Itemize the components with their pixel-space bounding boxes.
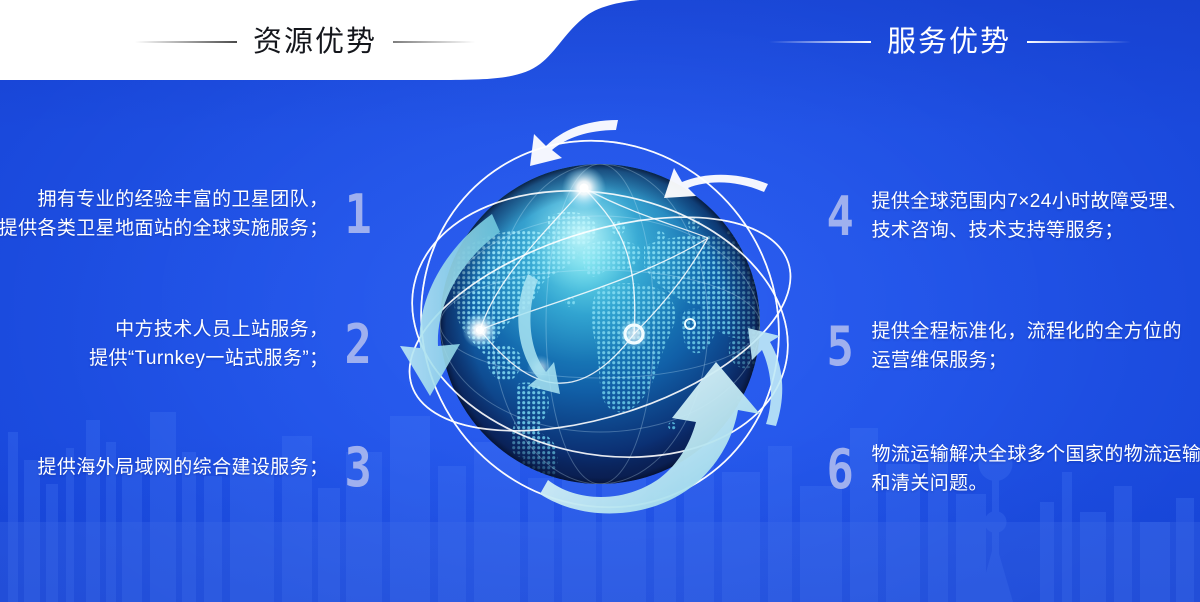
slide-canvas: 资源优势 服务优势 拥有专业的经验丰富的卫星团队， 提供各类卫星地面站的全球实施… — [0, 0, 1200, 602]
feature-item-4-number: 4 — [827, 190, 853, 244]
feature-item-1-text: 拥有专业的经验丰富的卫星团队， 提供各类卫星地面站的全球实施服务； — [0, 186, 328, 244]
feature-item-4: 4 提供全球范围内7×24小时故障受理、 技术咨询、技术支持等服务； — [806, 188, 1200, 246]
feature-item-4-text: 提供全球范围内7×24小时故障受理、 技术咨询、技术支持等服务； — [872, 188, 1188, 246]
feature-item-6-text: 物流运输解决全球多个国家的物流运输 和清关问题。 — [872, 441, 1200, 499]
feature-item-6: 6 物流运输解决全球多个国家的物流运输 和清关问题。 — [806, 441, 1200, 499]
header-rule-right — [1027, 41, 1131, 43]
feature-item-6-number: 6 — [827, 443, 853, 497]
feature-item-1: 拥有专业的经验丰富的卫星团队， 提供各类卫星地面站的全球实施服务； 1 — [0, 186, 392, 244]
feature-item-5: 5 提供全程标准化，流程化的全方位的 运营维保服务； — [806, 318, 1200, 376]
header-rule-left — [135, 41, 237, 43]
globe-network-illustration — [372, 96, 828, 552]
blue-panel-corner — [0, 62, 200, 122]
feature-item-1-number: 1 — [345, 188, 371, 242]
orbit-arrow-top — [530, 120, 618, 166]
header-rule-right — [393, 41, 475, 43]
feature-item-5-text: 提供全程标准化，流程化的全方位的 运营维保服务； — [872, 318, 1182, 376]
feature-item-3: 提供海外局域网的综合建设服务； 3 — [0, 441, 392, 495]
feature-item-2-number: 2 — [345, 318, 371, 372]
header-resource-advantage: 资源优势 — [110, 20, 500, 64]
header-service-advantage: 服务优势 — [700, 20, 1200, 64]
feature-item-3-number: 3 — [345, 441, 371, 495]
feature-item-3-text: 提供海外局域网的综合建设服务； — [37, 454, 328, 483]
header-right-title: 服务优势 — [887, 28, 1011, 57]
orbit-arrow-right — [664, 168, 768, 198]
feature-item-5-number: 5 — [827, 320, 853, 374]
header-left-title: 资源优势 — [253, 28, 377, 57]
feature-item-2-text: 中方技术人员上站服务， 提供“Turnkey一站式服务”； — [89, 316, 328, 374]
feature-item-2: 中方技术人员上站服务， 提供“Turnkey一站式服务”； 2 — [0, 316, 392, 374]
header-rule-left — [769, 41, 871, 43]
